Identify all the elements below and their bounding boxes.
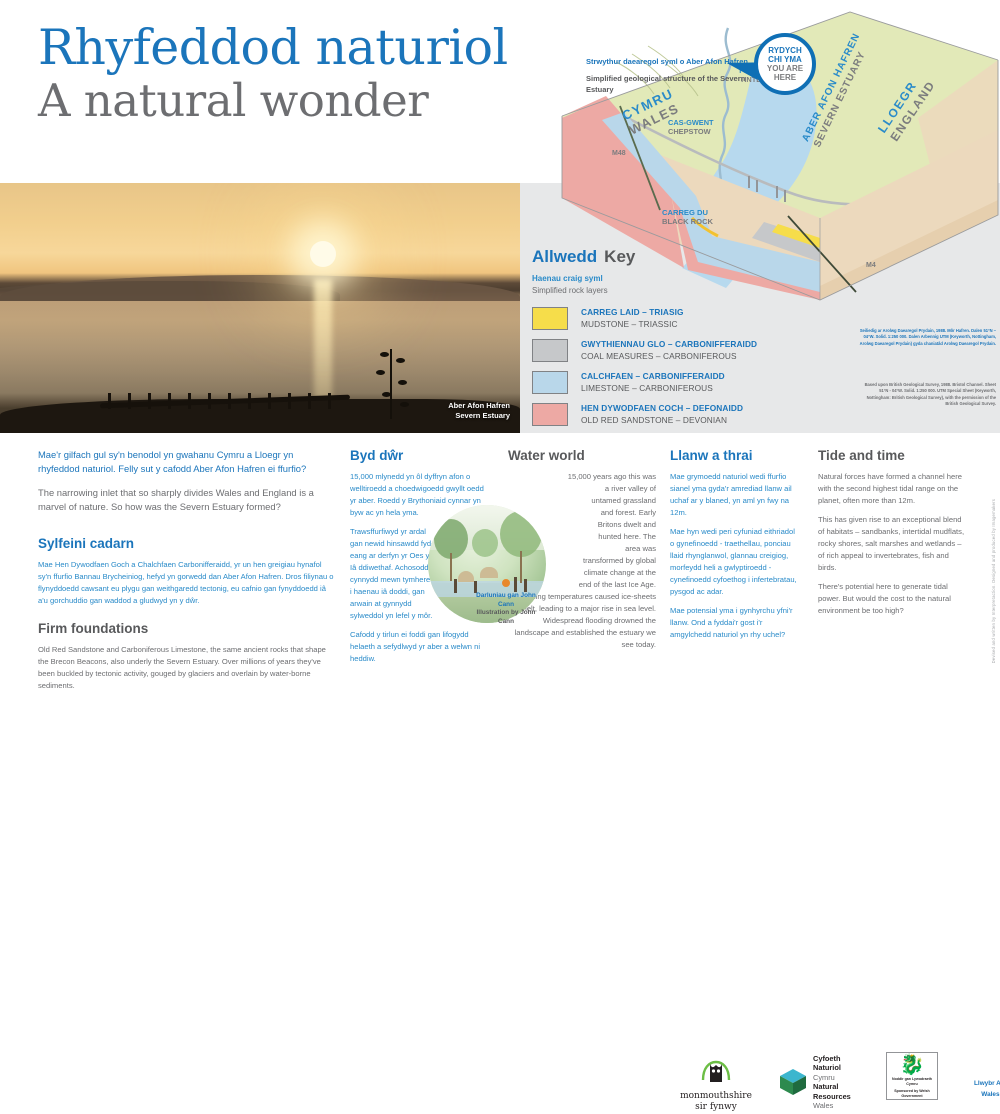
nrw-cube-icon xyxy=(778,1067,808,1097)
page-title: Rhyfeddod naturiol A natural wonder xyxy=(38,22,508,127)
heading-firm-foundations: Firm foundations xyxy=(38,621,334,637)
photo-caption: Aber Afon Hafren Severn Estuary xyxy=(448,401,510,421)
key-label-welsh: CALCHFAEN – CARBONIFFERAIDD xyxy=(581,370,725,382)
nrw-en-line2: Resources xyxy=(813,1092,851,1101)
coast-path-name-en: Wales Coast Path xyxy=(948,1091,1000,1100)
heading-tide-and-time: Tide and time xyxy=(818,448,968,464)
key-legend: AllweddKey Haenau craig syml Simplified … xyxy=(532,248,852,434)
key-label-welsh: CARREG LAID – TRIASIG xyxy=(581,306,684,318)
key-title-english: Key xyxy=(604,247,635,266)
llanw-para-2: Mae hyn wedi peri cyfuniad eithriadol o … xyxy=(670,526,798,598)
monmouthshire-name-en: monmouthshire xyxy=(668,1091,764,1102)
key-title: AllweddKey xyxy=(532,248,852,265)
key-label-english: COAL MEASURES – CARBONIFEROUS xyxy=(581,350,757,362)
tide-para-1: Natural forces have formed a channel her… xyxy=(818,471,968,507)
key-swatch-old-red-sandstone xyxy=(532,403,568,426)
key-label-english: OLD RED SANDSTONE – DEVONIAN xyxy=(581,414,743,426)
key-item-mudstone: CARREG LAID – TRIASIG MUDSTONE – TRIASSI… xyxy=(532,306,852,330)
production-credit: Devised and written by Interpretaction. … xyxy=(990,499,998,663)
estuary-sunset-photo: Aber Afon Hafren Severn Estuary xyxy=(0,183,520,433)
partner-logos: monmouthshire sir fynwy Cyfoeth Naturiol… xyxy=(668,1052,968,1102)
body-firm-foundations: Old Red Sandstone and Carboniferous Lime… xyxy=(38,644,334,692)
tide-para-3: There's potential here to generate tidal… xyxy=(818,581,968,617)
body-sylfeini-cadarn: Mae Hen Dywodfaen Goch a Chalchfaen Carb… xyxy=(38,559,334,607)
byd-dwr-para-3: Cafodd y tirlun ei foddi gan lifogydd he… xyxy=(350,629,485,665)
key-item-limestone: CALCHFAEN – CARBONIFFERAIDD LIMESTONE – … xyxy=(532,370,852,394)
nrw-cy-line1: Cyfoeth xyxy=(813,1054,841,1063)
you-are-here-marker: RYDYCH CHI YMA YOU ARE HERE xyxy=(754,33,816,95)
plant-silhouette xyxy=(372,349,412,419)
heading-water-world: Water world xyxy=(508,448,656,464)
key-swatch-mudstone xyxy=(532,307,568,330)
wreck-silhouette xyxy=(100,385,350,415)
map-label-black-rock: CARREG DU BLACK ROCK xyxy=(662,208,713,227)
title-welsh: Rhyfeddod naturiol xyxy=(38,22,508,73)
illustration-credit-welsh: Darluniau gan John Cann xyxy=(470,592,542,609)
nrw-cy-line3: Cymru xyxy=(813,1073,835,1082)
key-title-welsh: Allwedd xyxy=(532,247,597,266)
heading-sylfeini-cadarn: Sylfeini cadarn xyxy=(38,536,334,552)
hills-silhouette-secondary xyxy=(0,281,340,301)
column-foundations: Mae'r gilfach gul sy'n benodol yn gwahan… xyxy=(38,448,334,692)
bottom-content-area: Mae'r gilfach gul sy'n benodol yn gwahan… xyxy=(0,440,1000,669)
monmouthshire-shield-icon xyxy=(699,1058,733,1088)
illustration-credit: Darluniau gan John Cann Illustration by … xyxy=(470,592,542,627)
key-label-english: LIMESTONE – CARBONIFEROUS xyxy=(581,382,725,394)
title-english: A natural wonder xyxy=(38,75,508,127)
logo-monmouthshire: monmouthshire sir fynwy xyxy=(668,1058,764,1114)
column-llanw-a-thrai: Llanw a thrai Mae grymoedd naturiol wedi… xyxy=(670,448,798,641)
map-label-m48: M48 xyxy=(612,150,626,159)
nrw-cy-line2: Naturiol xyxy=(813,1063,841,1072)
bgs-credit-welsh: Seiliedig ar Arolwg Daearegol Prydain, 1… xyxy=(858,328,996,347)
llanw-para-1: Mae grymoedd naturiol wedi ffurfio siane… xyxy=(670,471,798,519)
tide-para-2: This has given rise to an exceptional bl… xyxy=(818,514,968,574)
welsh-gov-text-en: Sponsored by Welsh Government xyxy=(887,1089,937,1099)
logo-wales-coast-path: ⚭ Llwybr Arfordir Cymru Wales Coast Path xyxy=(948,1056,1000,1099)
photo-caption-english: Severn Estuary xyxy=(448,411,510,421)
sun-icon xyxy=(310,241,336,267)
illustration-credit-english: Illustration by John Cann xyxy=(470,609,542,626)
coast-path-name-cy: Llwybr Arfordir Cymru xyxy=(948,1080,1000,1089)
logo-welsh-government: 🐉 Noddir gan Lywodraeth Cymru Sponsored … xyxy=(886,1052,938,1100)
lead-english: The narrowing inlet that so sharply divi… xyxy=(38,486,334,513)
nrw-en-line1: Natural xyxy=(813,1082,838,1091)
welsh-dragon-icon: 🐉 xyxy=(887,1053,937,1077)
lead-welsh: Mae'r gilfach gul sy'n benodol yn gwahan… xyxy=(38,448,334,475)
map-label-chepstow: CAS-GWENT CHEPSTOW xyxy=(668,118,714,137)
map-label-m4: M4 xyxy=(866,262,876,271)
coast-path-shell-icon: ⚭ xyxy=(948,1056,1000,1078)
monmouthshire-name-cy: sir fynwy xyxy=(668,1102,764,1113)
key-label-welsh: HEN DYWODFAEN COCH – DEFONAIDD xyxy=(581,402,743,414)
key-item-coal-measures: GWYTHIENNAU GLO – CARBONIFFERAIDD COAL M… xyxy=(532,338,852,362)
heading-byd-dwr: Byd dŵr xyxy=(350,448,485,464)
column-tide-and-time: Tide and time Natural forces have formed… xyxy=(818,448,968,617)
nrw-en-line3: Wales xyxy=(813,1101,833,1110)
key-swatch-coal-measures xyxy=(532,339,568,362)
welsh-gov-text-cy: Noddir gan Lywodraeth Cymru xyxy=(887,1077,937,1087)
interpretation-panel: Rhyfeddod naturiol A natural wonder Aber… xyxy=(0,0,1000,669)
key-subtitle-english: Simplified rock layers xyxy=(532,285,852,297)
logo-natural-resources-wales: Cyfoeth Naturiol Cymru Natural Resources… xyxy=(778,1054,851,1111)
llanw-para-3: Mae potensial yma i gynhyrchu yfni'r lla… xyxy=(670,605,798,641)
key-subtitle-welsh: Haenau craig syml xyxy=(532,273,852,285)
key-label-welsh: GWYTHIENNAU GLO – CARBONIFFERAIDD xyxy=(581,338,757,350)
byd-dwr-para-2: Trawsffurfiwyd yr ardal gan newid hinsaw… xyxy=(350,526,440,622)
bgs-credit-english: Based upon British Geological Survey, 19… xyxy=(858,382,996,407)
key-label-english: MUDSTONE – TRIASSIC xyxy=(581,318,684,330)
key-swatch-limestone xyxy=(532,371,568,394)
photo-caption-welsh: Aber Afon Hafren xyxy=(448,401,510,411)
key-subtitle: Haenau craig syml Simplified rock layers xyxy=(532,273,852,296)
key-item-old-red-sandstone: HEN DYWODFAEN COCH – DEFONAIDD OLD RED S… xyxy=(532,402,852,426)
key-items: CARREG LAID – TRIASIG MUDSTONE – TRIASSI… xyxy=(532,306,852,426)
heading-llanw-a-thrai: Llanw a thrai xyxy=(670,448,798,464)
